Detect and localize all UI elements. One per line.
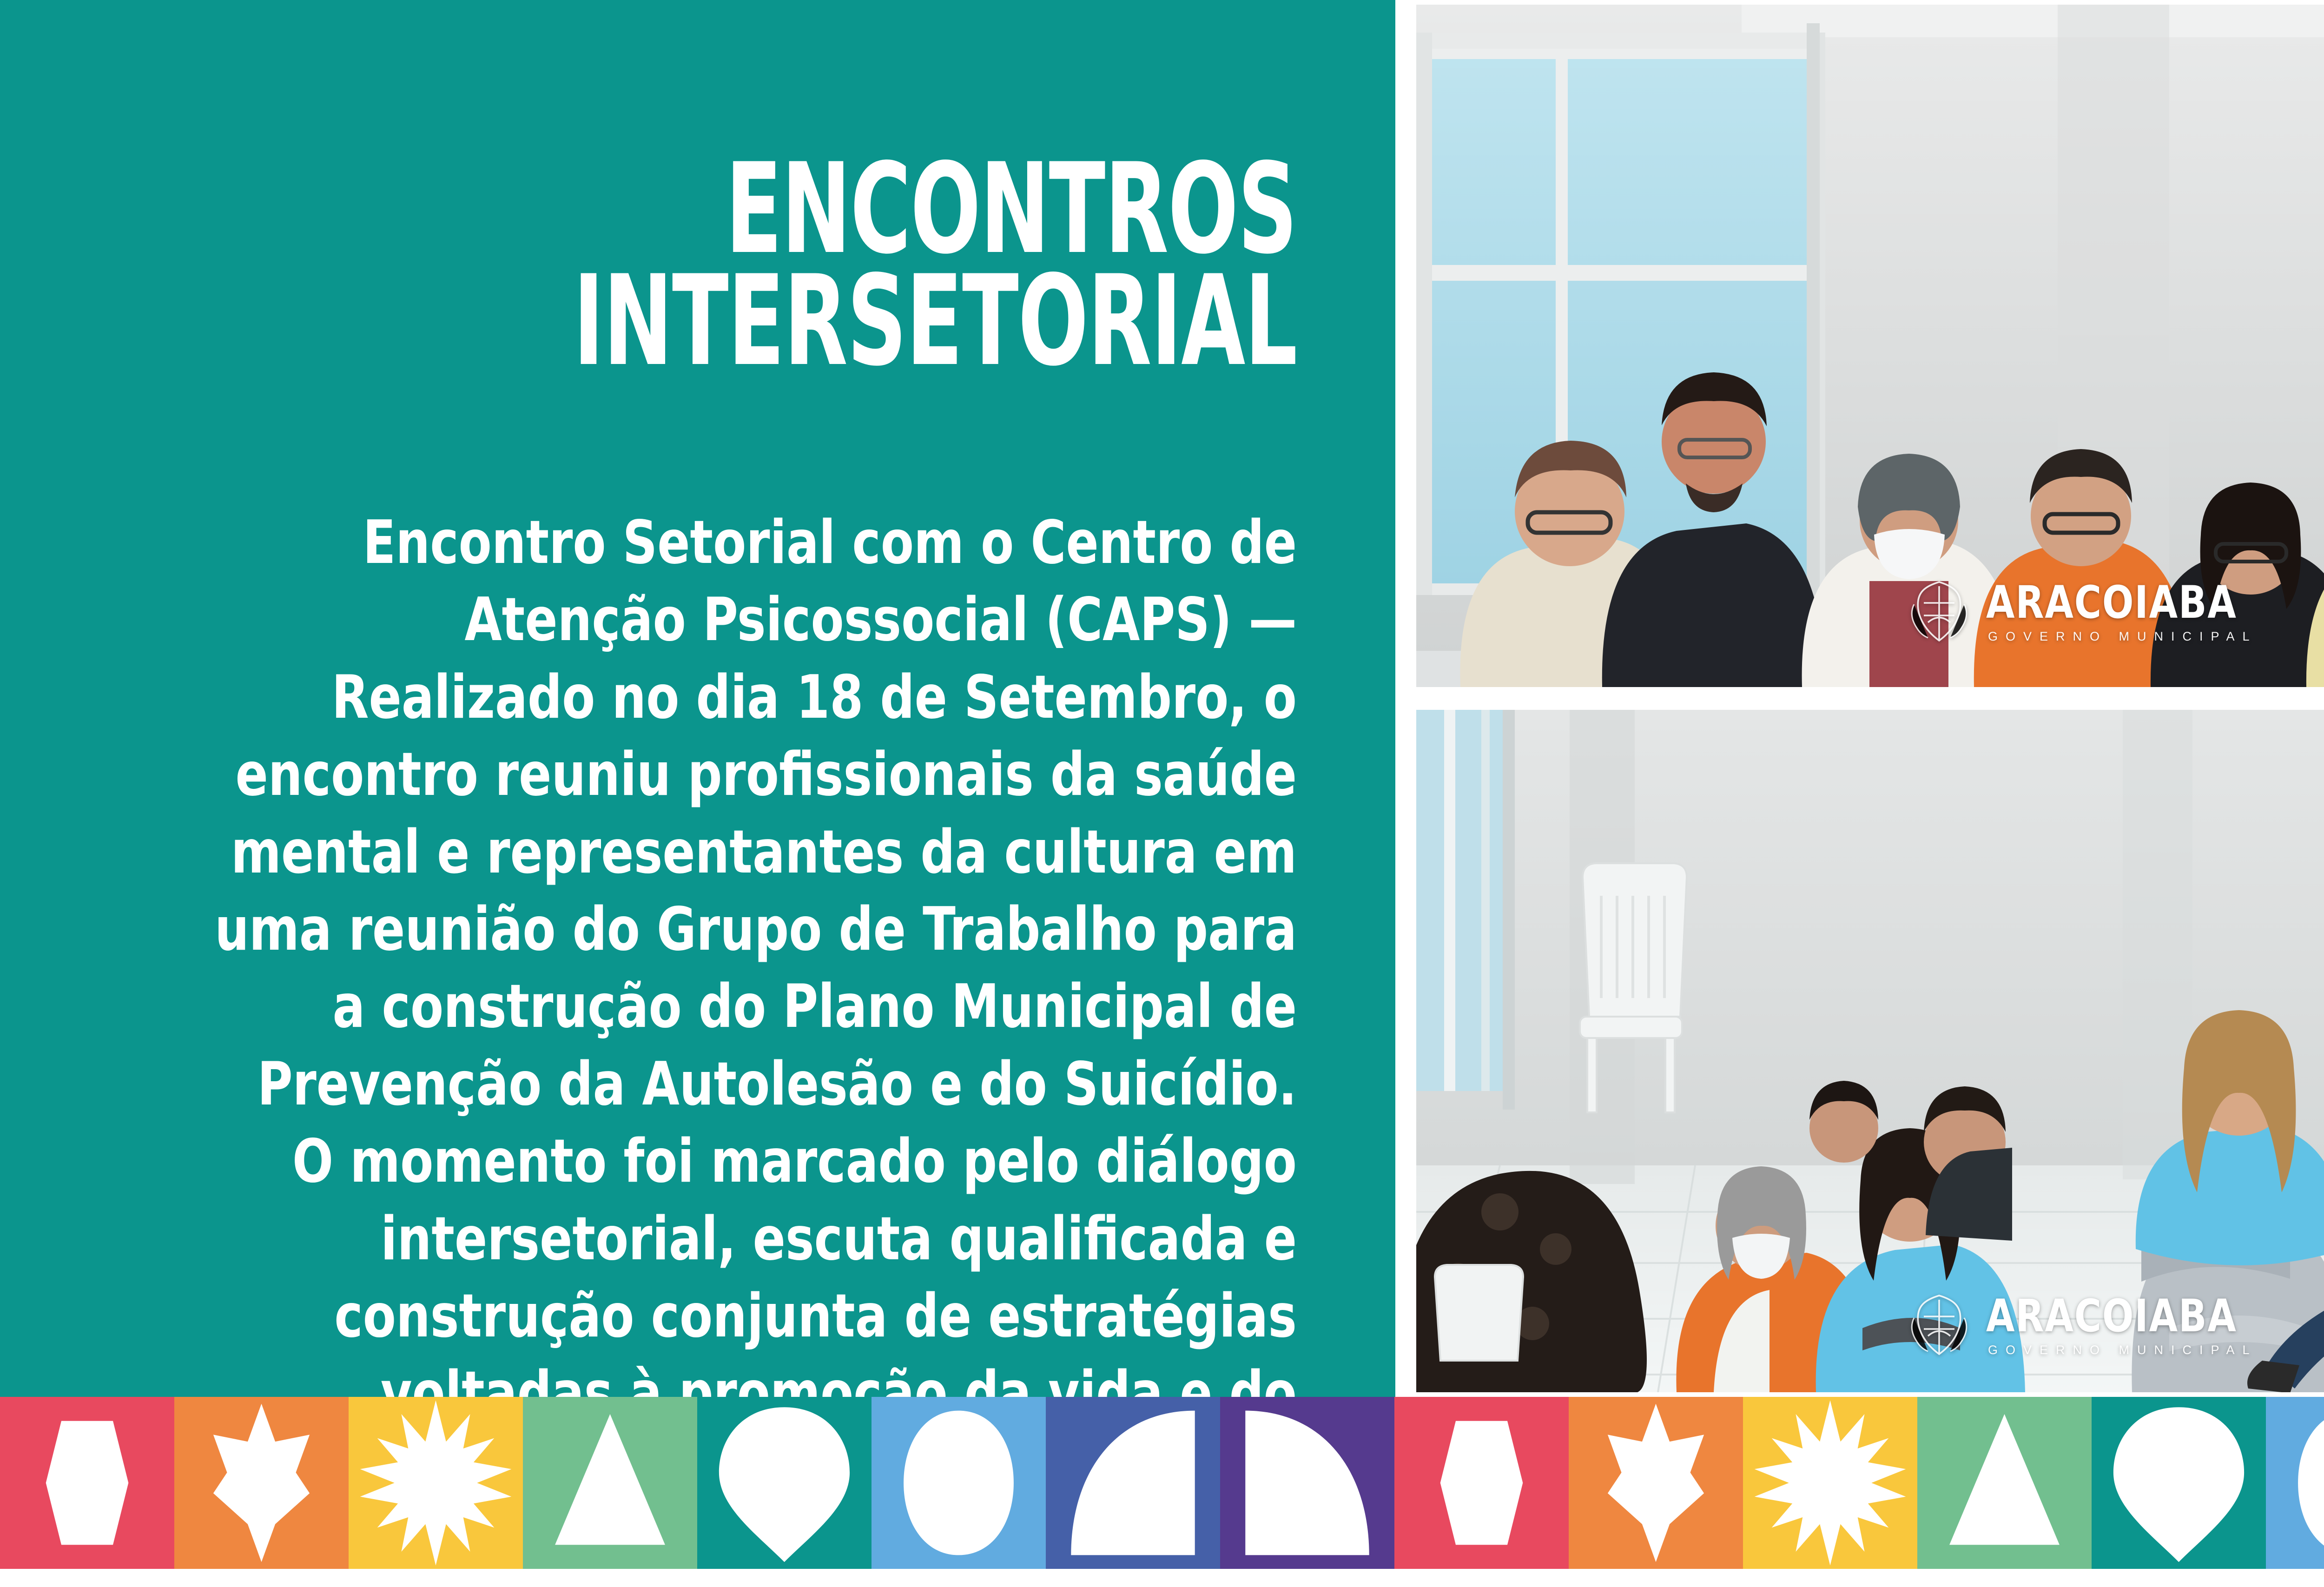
six-point-star-icon bbox=[174, 1397, 349, 1569]
strip-cell-ellipse bbox=[871, 1397, 1046, 1569]
triangle-icon bbox=[1917, 1397, 2092, 1569]
hexagon-icon bbox=[0, 1397, 174, 1569]
strip-cell-starburst bbox=[349, 1397, 523, 1569]
page-title-line-2: INTERSETORIAL bbox=[482, 265, 1297, 377]
decorative-shape-strip bbox=[0, 1397, 2324, 1569]
group-photo: ARACOIABA GOVERNO MUNICIPAL bbox=[1416, 5, 2324, 687]
quarter-round-left-icon bbox=[1046, 1397, 1220, 1569]
strip-cell-map-pin bbox=[697, 1397, 871, 1569]
map-pin-icon bbox=[2092, 1397, 2266, 1569]
meeting-photo: ARACOIABA GOVERNO MUNICIPAL bbox=[1416, 710, 2324, 1392]
starburst-icon bbox=[349, 1397, 523, 1569]
strip-cell-ellipse bbox=[2266, 1397, 2324, 1569]
strip-cell-six-point-star bbox=[174, 1397, 349, 1569]
strip-cell-map-pin bbox=[2092, 1397, 2266, 1569]
quarter-round-right-icon bbox=[1220, 1397, 1394, 1569]
starburst-icon bbox=[1743, 1397, 1917, 1569]
strip-cell-triangle bbox=[523, 1397, 697, 1569]
strip-cell-starburst bbox=[1743, 1397, 1917, 1569]
hexagon-icon bbox=[1394, 1397, 1569, 1569]
strip-cell-quarter-round-left bbox=[1046, 1397, 1220, 1569]
page-title: ENCONTROS INTERSETORIAL bbox=[482, 153, 1297, 377]
strip-cell-triangle bbox=[1917, 1397, 2092, 1569]
strip-cell-hexagon bbox=[1394, 1397, 1569, 1569]
strip-cell-six-point-star bbox=[1569, 1397, 1743, 1569]
strip-cell-quarter-round-right bbox=[1220, 1397, 1394, 1569]
ellipse-icon bbox=[871, 1397, 1046, 1569]
meeting-photo-image bbox=[1416, 710, 2324, 1392]
strip-cell-hexagon bbox=[0, 1397, 174, 1569]
group-photo-image bbox=[1416, 5, 2324, 687]
map-pin-icon bbox=[697, 1397, 871, 1569]
six-point-star-icon bbox=[1569, 1397, 1743, 1569]
triangle-icon bbox=[523, 1397, 697, 1569]
ellipse-icon bbox=[2266, 1397, 2324, 1569]
text-panel: ENCONTROS INTERSETORIAL Encontro Setoria… bbox=[0, 0, 1395, 1397]
poster-canvas: ENCONTROS INTERSETORIAL Encontro Setoria… bbox=[0, 0, 2324, 1569]
